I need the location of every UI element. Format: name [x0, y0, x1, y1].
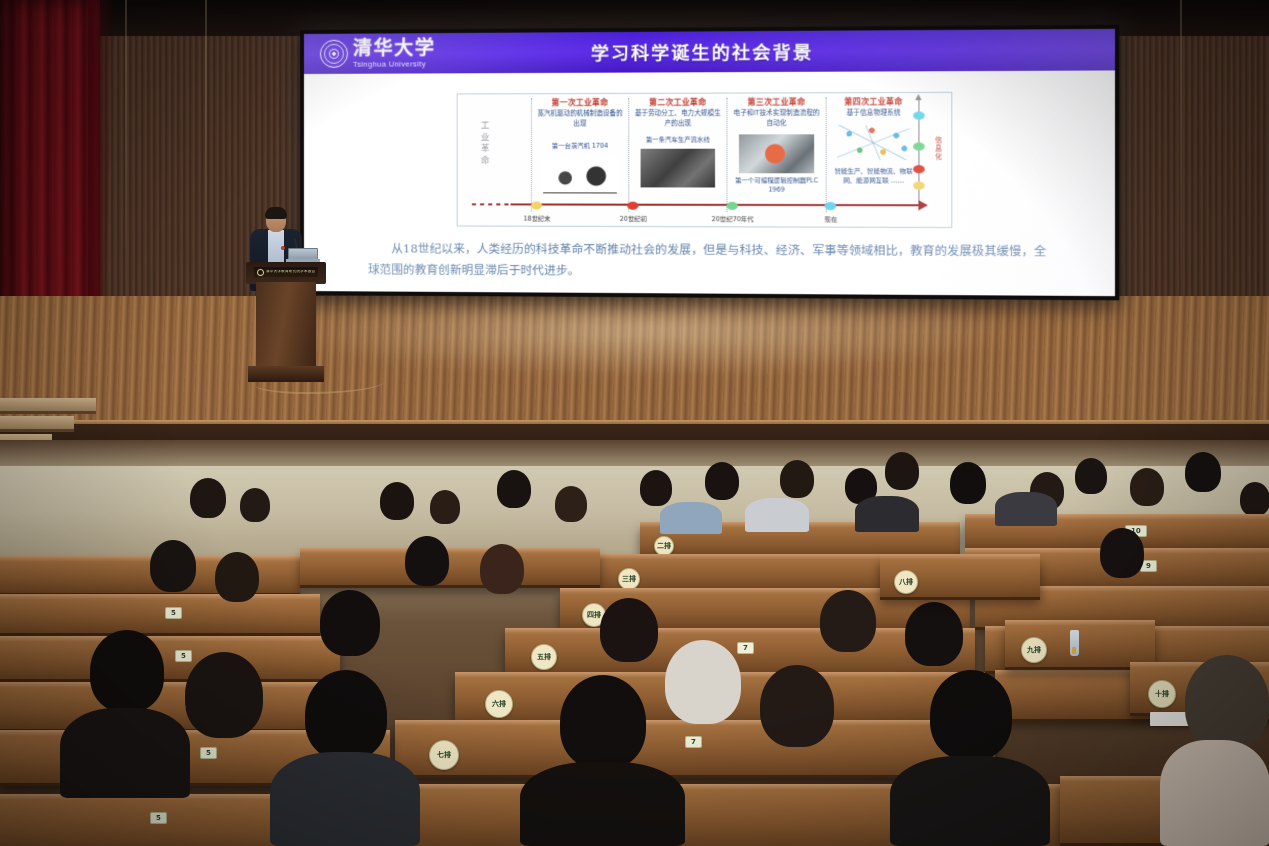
audience-person-head [640, 470, 672, 506]
seat-row[interactable]: 5 [0, 798, 300, 846]
cyber-physical-network-diagram [833, 121, 913, 164]
audience-person-head [480, 544, 524, 594]
audience-person-head [185, 652, 263, 738]
timeline-date: 20世纪70年代 [712, 214, 754, 223]
steam-engine-photo [543, 155, 617, 194]
seat-number: 7 [737, 642, 754, 654]
audience-person-body [1160, 740, 1269, 846]
podium-body [256, 282, 316, 368]
industrial-robot-photo [739, 134, 814, 173]
audience-person-body [660, 502, 722, 534]
audience-person-head [905, 602, 963, 666]
row-tag: 六排 [485, 690, 513, 718]
timeline-dot [825, 202, 837, 210]
timeline-dot [531, 201, 542, 209]
seat-row[interactable]: 5 [0, 640, 340, 682]
audience-person-head [497, 470, 531, 508]
era-subtitle: 基于劳动分工、电力大规模生产的出现 [632, 109, 723, 128]
podium-plate-text: 清华大学教育研究院学术报告 [266, 270, 315, 274]
row-tag: 五排 [531, 644, 557, 670]
era-caption: 第一条汽车生产流水线 [632, 137, 723, 146]
era-caption: 第一个可编程逻辑控制器PLC 1969 [731, 177, 823, 195]
era-subtitle: 蒸汽机驱动的机械制造设备的出现 [535, 110, 625, 129]
audience-person-head [1185, 452, 1221, 492]
era-title: 第二次工业革命 [632, 98, 723, 108]
seat-row[interactable]: 5 [0, 598, 320, 636]
era-caption: 智能生产、智能物流、物联网、能源网互联 …… [830, 168, 917, 187]
water-bottle[interactable] [1070, 630, 1079, 656]
era-column-2: 第二次工业革命 基于劳动分工、电力大规模生产的出现 第一条汽车生产流水线 [628, 98, 726, 212]
auditorium-wall-trim [0, 440, 1269, 466]
audience-person-head [760, 665, 834, 747]
slide-body: 工业革命 第一次工业革命 蒸汽机驱动的机械制造设备的出现 第一台蒸汽机 1704… [304, 70, 1115, 296]
vertical-axis-dot [913, 165, 925, 173]
slide-header-bar: 清华大学 Tsinghua University 学习科学诞生的社会背景 [304, 29, 1115, 74]
audience-person-head [90, 630, 164, 712]
timeline-date: 18世纪末 [524, 214, 551, 223]
timeline-date: 20世纪初 [620, 214, 647, 223]
era-title: 第四次工业革命 [830, 97, 917, 107]
wall-seam [125, 0, 127, 300]
audience-person-head [885, 452, 919, 490]
era-column-4: 第四次工业革命 基于信息物理系统 智能生产、智能物流、物联网、能源网互联 …… [826, 97, 921, 212]
audience-person-head [705, 462, 739, 500]
industrial-revolution-timeline-figure: 工业革命 第一次工业革命 蒸汽机驱动的机械制造设备的出现 第一台蒸汽机 1704… [457, 92, 953, 228]
podium-top: 清华大学教育研究院学术报告 [246, 262, 326, 284]
slide-title: 学习科学诞生的社会背景 [304, 37, 1115, 67]
era-subtitle: 基于信息物理系统 [830, 109, 917, 119]
vertical-axis-dot [913, 182, 925, 190]
audience-person-head [215, 552, 259, 602]
audience-person-head [1130, 468, 1164, 506]
era-subtitle: 电子和IT技术实现制造流程的自动化 [731, 109, 823, 128]
vertical-axis-dot [913, 111, 925, 119]
audience-person-body [745, 498, 809, 532]
audience-person-head [430, 490, 460, 524]
era-column-1: 第一次工业革命 蒸汽机驱动的机械制造设备的出现 第一台蒸汽机 1704 [531, 98, 628, 212]
projection-screen: 清华大学 Tsinghua University 学习科学诞生的社会背景 工业革… [300, 25, 1119, 301]
audience-person-body [60, 708, 190, 798]
audience-person-body [995, 492, 1057, 526]
wall-seam [1180, 0, 1182, 300]
era-caption: 第一台蒸汽机 1704 [535, 143, 625, 152]
figure-right-axis-label: 信息化 [932, 136, 943, 161]
audience-person-body [270, 752, 420, 846]
audience-person-head [1240, 482, 1269, 516]
audience-person-head [665, 640, 741, 724]
presenter-lapel-badge [281, 246, 285, 250]
audience-person-body [520, 762, 685, 846]
audience-person-head [240, 488, 270, 522]
lecture-hall-scene: 清华大学 Tsinghua University 学习科学诞生的社会背景 工业革… [0, 0, 1269, 846]
timeline-dot [627, 202, 638, 210]
audience-person-head [1185, 655, 1269, 749]
audience-person-head [555, 486, 587, 522]
audience-person-head [820, 590, 876, 652]
era-title: 第三次工业革命 [731, 97, 823, 107]
row-tag: 八排 [894, 570, 918, 594]
audience-person-head [560, 675, 646, 769]
stage-light-glow [270, 298, 1030, 378]
seat-row[interactable] [300, 552, 600, 588]
podium-seal-icon [257, 269, 264, 276]
slide-caption-text: 从18世纪以来，人类经历的科技革命不断推动社会的发展，但是与科技、经济、军事等领… [368, 239, 1046, 284]
podium-base [248, 366, 324, 382]
row-tag: 七排 [429, 740, 459, 770]
audience-person-head [405, 536, 449, 586]
seat-number: 5 [175, 650, 192, 662]
audience-person-body [890, 756, 1050, 846]
podium-name-plate: 清华大学教育研究院学术报告 [254, 267, 318, 277]
audience-person-head [930, 670, 1012, 760]
seat-number: 5 [200, 747, 217, 759]
presenter-hair [265, 207, 287, 219]
seat-number: 7 [685, 736, 702, 748]
seat-number: 5 [165, 607, 182, 619]
speaker-podium: 清华大学教育研究院学术报告 [246, 262, 326, 386]
slide-surface: 清华大学 Tsinghua University 学习科学诞生的社会背景 工业革… [304, 29, 1115, 296]
audience-person-head [305, 670, 387, 760]
timeline-dot [726, 202, 737, 210]
audience-person-head [1100, 528, 1144, 578]
wall-seam [205, 0, 207, 300]
row-tag: 九排 [1021, 637, 1047, 663]
era-title: 第一次工业革命 [535, 98, 625, 108]
row-tag: 十排 [1148, 680, 1176, 708]
timeline-arrow-icon [918, 200, 928, 210]
vertical-axis-dot [913, 142, 925, 150]
audience-person-head [190, 478, 226, 518]
seat-number: 5 [150, 812, 167, 824]
assembly-line-photo [640, 149, 715, 188]
audience-person-head [380, 482, 414, 520]
era-column-3: 第三次工业革命 电子和IT技术实现制造流程的自动化 第一个可编程逻辑控制器PLC… [726, 97, 825, 212]
row-tag: 二排 [654, 536, 674, 556]
timeline-dashed-start [472, 203, 513, 205]
audience-person-head [600, 598, 658, 662]
audience-person-head [1075, 458, 1107, 494]
audience-person-body [855, 496, 919, 532]
audience-person-head [780, 460, 814, 498]
timeline-date: 现在 [824, 214, 837, 223]
audience-person-head [320, 590, 380, 656]
audience-person-head [950, 462, 986, 504]
audience-person-head [150, 540, 196, 592]
seat-row[interactable]: 八排 [880, 558, 1040, 600]
row-tag: 三排 [618, 568, 640, 590]
figure-vertical-axis-label: 工业革命 [476, 121, 490, 167]
auditorium-seating: 二排 10 三排 9 5 四排 [0, 440, 1269, 846]
